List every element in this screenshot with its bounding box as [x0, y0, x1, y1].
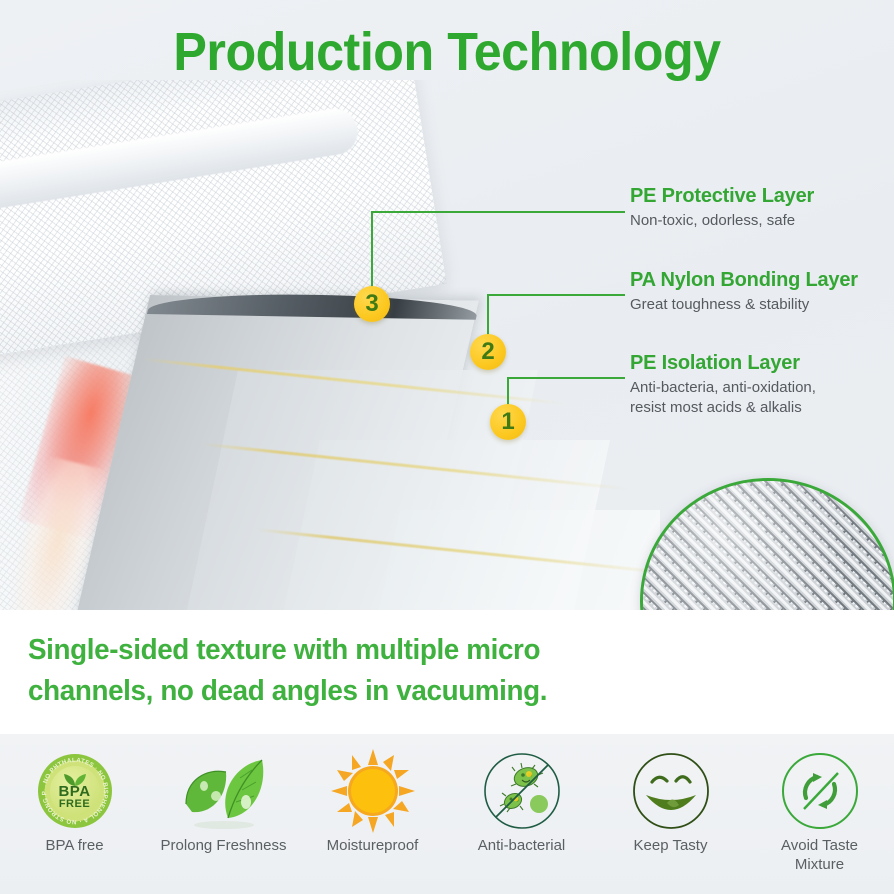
- leader-line-2-horizontal: [487, 294, 625, 296]
- bacteria-crossed-icon: [482, 751, 562, 831]
- leader-line-1-horizontal: [507, 377, 625, 379]
- feature-label-keep-tasty: Keep Tasty: [604, 836, 738, 855]
- two-leaves-icon: [178, 752, 270, 830]
- callout-title-1: PE Isolation Layer: [630, 351, 894, 376]
- smiley-face-icon: [604, 748, 738, 834]
- feature-label-anti-bacterial: Anti-bacterial: [455, 836, 589, 855]
- feature-keep-tasty[interactable]: Keep Tasty: [604, 748, 738, 855]
- feature-label-moistureproof: Moistureproof: [306, 836, 440, 855]
- leader-line-3-vertical: [371, 211, 373, 297]
- sun-rays-icon: [331, 749, 415, 833]
- bpa-ring-label: NO PHTHALATES · NO BISPHENOL A · NO STRO…: [38, 754, 109, 825]
- page-title: Production Technology: [31, 22, 862, 82]
- layer-badge-1[interactable]: 1: [490, 404, 526, 440]
- callout-desc-3: Non-toxic, odorless, safe: [630, 211, 894, 231]
- feature-label-bpa-free: BPA free: [8, 836, 142, 855]
- infographic-canvas: Production Technology 3 2 1 PE Protectiv…: [0, 0, 894, 894]
- feature-label-line-1: Avoid Taste: [753, 836, 887, 855]
- feature-avoid-taste-mixture[interactable]: Avoid Taste Mixture: [753, 748, 887, 874]
- callout-pe-protective-layer: PE Protective Layer Non-toxic, odorless,…: [630, 184, 894, 231]
- leaf-icon: [157, 748, 291, 834]
- feature-label-line-2: Mixture: [753, 855, 887, 874]
- banner-text: Single-sided texture with multiple micro…: [28, 630, 566, 712]
- feature-prolong-freshness[interactable]: Prolong Freshness: [157, 748, 291, 855]
- feature-anti-bacterial[interactable]: Anti-bacterial: [455, 748, 589, 855]
- feature-banner: Single-sided texture with multiple micro…: [0, 610, 894, 734]
- callout-pa-nylon-bonding-layer: PA Nylon Bonding Layer Great toughness &…: [630, 268, 894, 315]
- no-taste-mixture-icon: [753, 748, 887, 834]
- callout-desc-1-line2: resist most acids & alkalis: [630, 398, 894, 418]
- sun-icon: [306, 748, 440, 834]
- feature-bpa-free[interactable]: NO PHTHALATES · NO BISPHENOL A · NO STRO…: [8, 748, 142, 855]
- banner-line-1: Single-sided texture with multiple micro: [28, 630, 566, 671]
- layer-badge-3[interactable]: 3: [354, 286, 390, 322]
- layer-badge-2[interactable]: 2: [470, 334, 506, 370]
- product-photo: [0, 80, 660, 640]
- feature-label-prolong-freshness: Prolong Freshness: [157, 836, 291, 855]
- bpa-free-icon: NO PHTHALATES · NO BISPHENOL A · NO STRO…: [8, 748, 142, 834]
- bpa-ring-text: NO PHTHALATES · NO BISPHENOL A · NO STRO…: [38, 754, 112, 828]
- bpa-badge: NO PHTHALATES · NO BISPHENOL A · NO STRO…: [38, 754, 112, 828]
- no-bacteria-icon: [455, 748, 589, 834]
- feature-strip: NO PHTHALATES · NO BISPHENOL A · NO STRO…: [0, 734, 894, 894]
- leader-line-3-horizontal: [371, 211, 625, 213]
- happy-face-icon: [631, 751, 711, 831]
- callout-title-3: PE Protective Layer: [630, 184, 894, 209]
- feature-label-avoid-taste-mixture: Avoid Taste Mixture: [753, 836, 887, 874]
- callout-desc-2: Great toughness & stability: [630, 295, 894, 315]
- banner-line-2: channels, no dead angles in vacuuming.: [28, 671, 566, 712]
- crossed-cycle-icon: [780, 751, 860, 831]
- callout-title-2: PA Nylon Bonding Layer: [630, 268, 894, 293]
- callout-pe-isolation-layer: PE Isolation Layer Anti-bacteria, anti-o…: [630, 351, 894, 418]
- feature-moistureproof[interactable]: Moistureproof: [306, 748, 440, 855]
- callout-desc-1-line1: Anti-bacteria, anti-oxidation,: [630, 378, 894, 398]
